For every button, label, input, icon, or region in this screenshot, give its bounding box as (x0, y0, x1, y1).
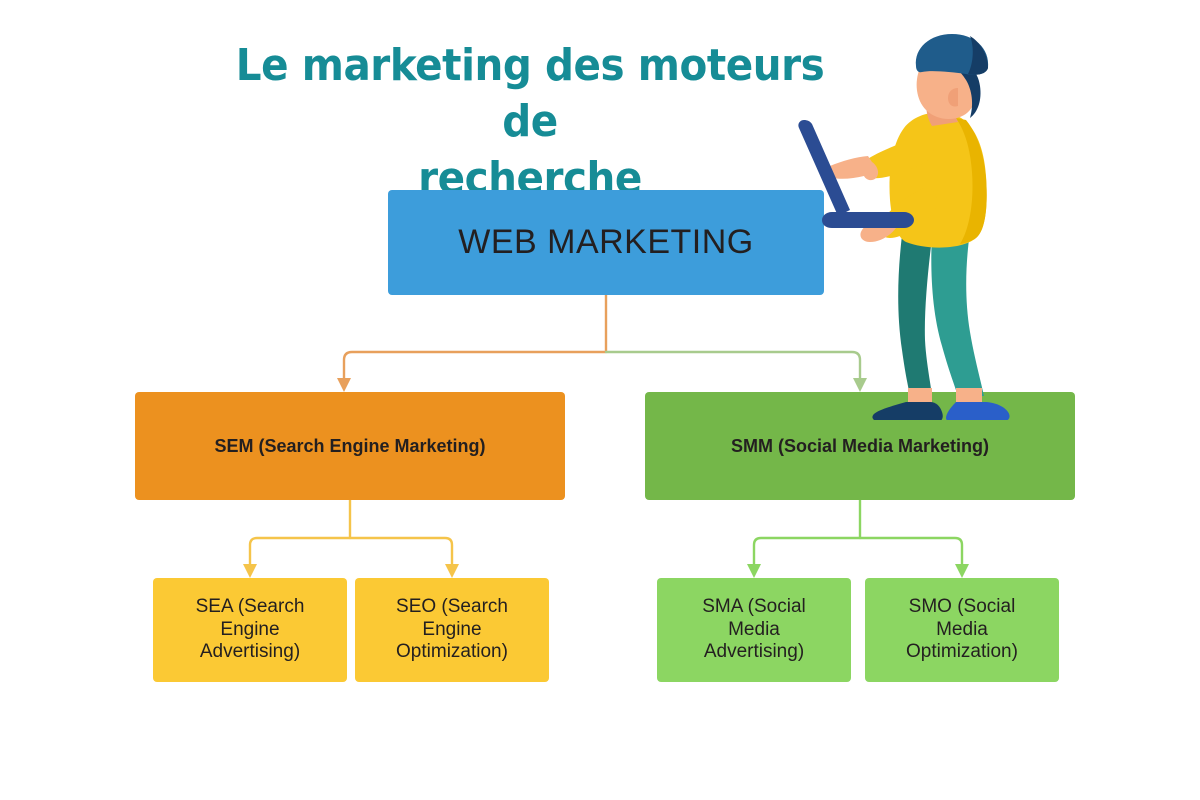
node-smm-label: SMM (Social Media Marketing) (731, 436, 989, 457)
arrowhead-seo (445, 564, 459, 578)
node-sea-line-2: Engine (220, 619, 279, 640)
arrowhead-sem (337, 378, 351, 392)
front-shoe (946, 402, 1010, 420)
node-sea-line-1: SEA (Search (196, 596, 305, 617)
connector-root-to-sem (344, 352, 606, 380)
node-sma-line-1: SMA (Social (702, 596, 805, 617)
node-sea-label: SEA (Search Engine Advertising) (196, 596, 305, 664)
node-sma-line-2: Media (728, 619, 780, 640)
person-with-laptop-illustration (780, 20, 1050, 420)
node-smo[interactable]: SMO (Social Media Optimization) (865, 578, 1059, 682)
node-sea-line-3: Advertising) (200, 641, 300, 662)
back-leg (898, 235, 932, 396)
node-seo[interactable]: SEO (Search Engine Optimization) (355, 578, 549, 682)
front-leg (931, 232, 984, 396)
back-ankle (908, 388, 932, 404)
node-smo-line-1: SMO (Social (909, 596, 1016, 617)
node-sem[interactable]: SEM (Search Engine Marketing) (135, 392, 565, 500)
node-smo-line-3: Optimization) (906, 641, 1018, 662)
node-web-marketing[interactable]: WEB MARKETING (388, 190, 824, 295)
page-title: Le marketing des moteurs de recherche (208, 38, 852, 207)
laptop-base (822, 212, 914, 228)
node-smo-label: SMO (Social Media Optimization) (906, 596, 1018, 664)
connector-smm-to-sma (754, 538, 860, 566)
node-seo-line-3: Optimization) (396, 641, 508, 662)
node-sma-line-3: Advertising) (704, 641, 804, 662)
arrowhead-sma (747, 564, 761, 578)
node-smo-line-2: Media (936, 619, 988, 640)
node-seo-label: SEO (Search Engine Optimization) (396, 596, 508, 664)
front-ankle (956, 388, 982, 404)
node-seo-line-2: Engine (422, 619, 481, 640)
node-web-marketing-label: WEB MARKETING (458, 223, 754, 262)
connector-smm-to-smo (860, 538, 962, 566)
connector-sem-to-sea (250, 538, 350, 566)
page-title-line-1: Le marketing des moteurs de (236, 40, 824, 147)
node-seo-line-1: SEO (Search (396, 596, 508, 617)
diagram-canvas: Le marketing des moteurs de recherche WE… (0, 0, 1200, 800)
arrowhead-smo (955, 564, 969, 578)
node-sea[interactable]: SEA (Search Engine Advertising) (153, 578, 347, 682)
arrowhead-sea (243, 564, 257, 578)
connector-sem-to-seo (350, 538, 452, 566)
node-sem-label: SEM (Search Engine Marketing) (214, 436, 485, 457)
node-sma[interactable]: SMA (Social Media Advertising) (657, 578, 851, 682)
back-shoe (872, 402, 942, 420)
node-sma-label: SMA (Social Media Advertising) (702, 596, 805, 664)
